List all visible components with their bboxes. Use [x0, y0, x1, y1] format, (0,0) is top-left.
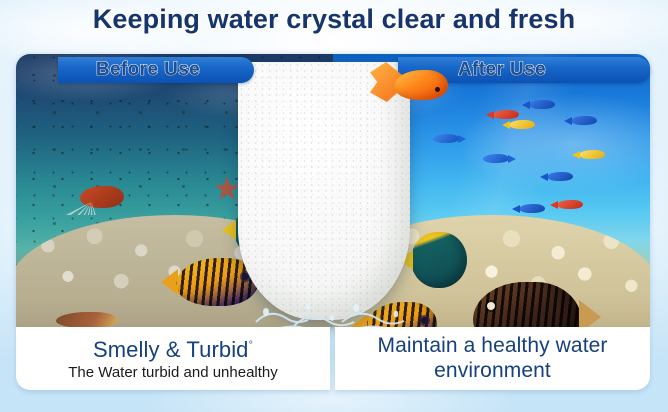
- tang-fish: [411, 232, 467, 288]
- before-caption-secondary: The Water turbid and unhealthy: [68, 364, 278, 381]
- goldfish-body: [394, 70, 448, 100]
- small-fish: [493, 110, 519, 119]
- small-fish: [547, 172, 573, 181]
- degree-mark: °: [249, 340, 254, 352]
- small-fish: [433, 134, 459, 143]
- after-caption-card: Maintain a healthy water environment: [335, 327, 650, 390]
- caption-row: Smelly & Turbid° The Water turbid and un…: [16, 327, 650, 390]
- after-caption-primary: Maintain a healthy water environment: [348, 334, 638, 384]
- goldfish-eye: [435, 87, 440, 92]
- after-use-label: After Use: [458, 59, 546, 81]
- wrasse-fish: [56, 312, 118, 327]
- small-fish: [579, 150, 605, 159]
- small-fish: [509, 120, 535, 129]
- product-infographic-poster: Keeping water crystal clear and fresh: [0, 0, 668, 412]
- page-title: Keeping water crystal clear and fresh: [0, 4, 668, 35]
- before-use-banner: Before Use: [58, 57, 254, 83]
- before-use-label: Before Use: [96, 59, 200, 81]
- before-caption-primary: Smelly & Turbid°: [93, 338, 253, 362]
- goldfish-icon: [372, 60, 448, 104]
- before-caption-card: Smelly & Turbid° The Water turbid and un…: [16, 327, 330, 390]
- small-fish: [519, 204, 545, 213]
- before-caption-primary-text: Smelly & Turbid: [93, 337, 249, 362]
- small-fish: [557, 200, 583, 209]
- lionfish-icon: [80, 186, 124, 208]
- small-fish: [529, 100, 555, 109]
- small-fish: [483, 154, 509, 163]
- small-fish: [571, 116, 597, 125]
